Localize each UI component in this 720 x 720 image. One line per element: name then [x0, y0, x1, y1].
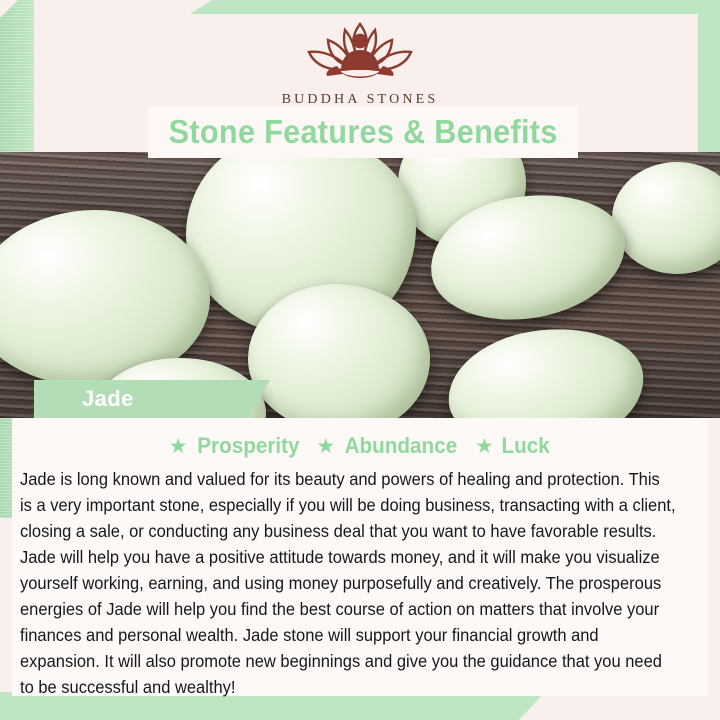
infographic-poster: BUDDHA STONES Stone Features & Benefits … [0, 0, 720, 720]
benefit-label: Luck [501, 433, 549, 459]
benefit-item: ★ Luck [475, 433, 551, 459]
star-icon: ★ [169, 436, 188, 457]
benefit-item: ★ Prosperity [169, 433, 303, 459]
star-icon: ★ [475, 436, 494, 457]
brand-logo: BUDDHA STONES [0, 16, 720, 108]
benefit-label: Prosperity [197, 433, 299, 459]
lotus-meditation-icon [285, 16, 435, 90]
benefit-label: Abundance [345, 433, 458, 459]
stone-name: Jade [82, 386, 134, 412]
top-green-band [190, 0, 720, 14]
stone-name-banner: Jade [34, 380, 270, 418]
content-panel: ★ Prosperity ★ Abundance ★ Luck Jade is … [12, 418, 708, 696]
title-banner: Stone Features & Benefits [148, 106, 578, 158]
jade-stones-photo [0, 152, 720, 418]
benefits-row: ★ Prosperity ★ Abundance ★ Luck [12, 428, 708, 464]
star-icon: ★ [316, 436, 335, 457]
stone-description: Jade is long known and valued for its be… [20, 467, 676, 701]
page-title: Stone Features & Benefits [168, 113, 557, 151]
benefit-item: ★ Abundance [316, 433, 461, 459]
